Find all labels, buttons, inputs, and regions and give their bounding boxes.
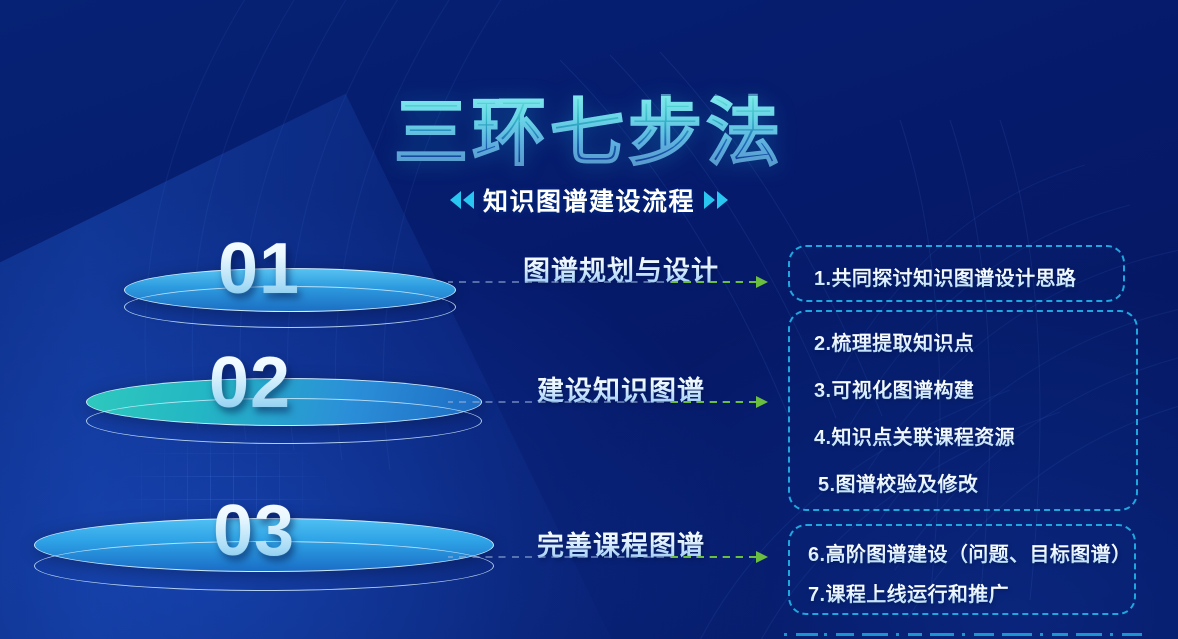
- steps-panel-1: 1.共同探讨知识图谱设计思路: [788, 245, 1125, 302]
- stage-number-03: 03: [213, 495, 295, 567]
- step-item-4[interactable]: 4.知识点关联课程资源: [814, 421, 1015, 450]
- stage-connector-02: [448, 396, 768, 408]
- double-right-arrow-icon: [704, 191, 728, 209]
- step-item-1[interactable]: 1.共同探讨知识图谱设计思路: [814, 262, 1076, 291]
- subtitle-row: 知识图谱建设流程: [0, 182, 1178, 218]
- double-left-arrow-icon: [450, 191, 474, 209]
- steps-panel-2: 2.梳理提取知识点 3.可视化图谱构建 4.知识点关联课程资源 5.图谱校验及修…: [788, 310, 1138, 511]
- page-subtitle: 知识图谱建设流程: [483, 182, 695, 218]
- slide-canvas: 三环七步法 知识图谱建设流程 01 图谱规划与设计 02 建设知识图谱: [0, 0, 1178, 639]
- step-item-2[interactable]: 2.梳理提取知识点: [814, 327, 974, 356]
- step-item-7[interactable]: 7.课程上线运行和推广: [808, 578, 1009, 607]
- steps-panel-3: 6.高阶图谱建设（问题、目标图谱） 7.课程上线运行和推广: [788, 524, 1136, 615]
- header: 三环七步法 知识图谱建设流程: [0, 96, 1178, 218]
- stage-connector-03: [448, 551, 768, 563]
- stage-number-01: 01: [218, 233, 300, 305]
- page-title: 三环七步法: [0, 96, 1178, 170]
- stage-number-02: 02: [209, 347, 291, 419]
- step-item-5[interactable]: 5.图谱校验及修改: [818, 468, 978, 497]
- stage-connector-01: [448, 276, 768, 288]
- step-item-6[interactable]: 6.高阶图谱建设（问题、目标图谱）: [808, 538, 1131, 567]
- step-item-3[interactable]: 3.可视化图谱构建: [814, 374, 974, 403]
- background-tick-marks: [778, 631, 1178, 639]
